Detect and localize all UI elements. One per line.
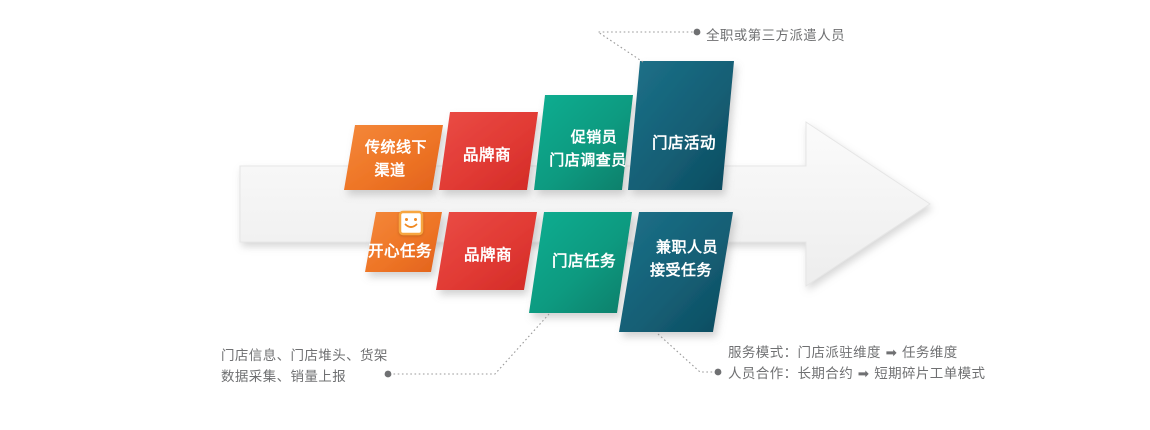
leader-line-bottom-right	[658, 334, 721, 375]
block-traditional-offline-channel[interactable]	[344, 125, 443, 190]
block-label-b4-line1: 兼职人员	[656, 238, 718, 256]
block-label-t3-line1: 促销员	[570, 128, 618, 146]
block-label-b3-line1: 门店任务	[552, 251, 616, 270]
annotation-staffing-line1: 全职或第三方派遣人员	[706, 26, 845, 47]
annotation-service-model-line1: 服务模式：门店派驻维度 ➡ 任务维度	[728, 343, 985, 364]
block-label-b2-line1: 品牌商	[464, 245, 512, 264]
leader-dot-top-right	[694, 29, 701, 36]
annotation-store-data-line1: 门店信息、门店堆头、货架	[221, 346, 388, 367]
block-label-t1-line2: 渠道	[374, 161, 405, 179]
top-row-group: 传统线下 渠道 品牌商 促销员 门店调查员 门店活动	[344, 61, 734, 190]
block-label-t3-line2: 门店调查员	[549, 151, 627, 169]
smiley-icon	[400, 212, 422, 234]
block-label-t1-line1: 传统线下	[364, 138, 427, 156]
block-label-t2-line1: 品牌商	[463, 145, 511, 164]
diagram-canvas: 传统线下 渠道 品牌商 促销员 门店调查员 门店活动	[0, 0, 1150, 430]
annotation-store-data: 门店信息、门店堆头、货架 数据采集、销量上报	[221, 346, 388, 388]
leader-dot-bottom-right	[715, 369, 722, 376]
leader-line-top-right	[598, 29, 700, 62]
block-label-b1-line1: 开心任务	[368, 241, 432, 260]
block-label-b4-line2: 接受任务	[650, 261, 713, 279]
annotation-service-model: 服务模式：门店派驻维度 ➡ 任务维度 人员合作：长期合约 ➡ 短期碎片工单模式	[728, 343, 985, 385]
annotation-service-model-line2: 人员合作：长期合约 ➡ 短期碎片工单模式	[728, 364, 985, 385]
block-store-activity[interactable]	[628, 61, 734, 190]
leader-line-bottom-left	[385, 314, 549, 377]
annotation-store-data-line2: 数据采集、销量上报	[221, 367, 388, 388]
block-label-t4-line1: 门店活动	[652, 133, 716, 152]
annotation-staffing: 全职或第三方派遣人员	[706, 26, 845, 47]
